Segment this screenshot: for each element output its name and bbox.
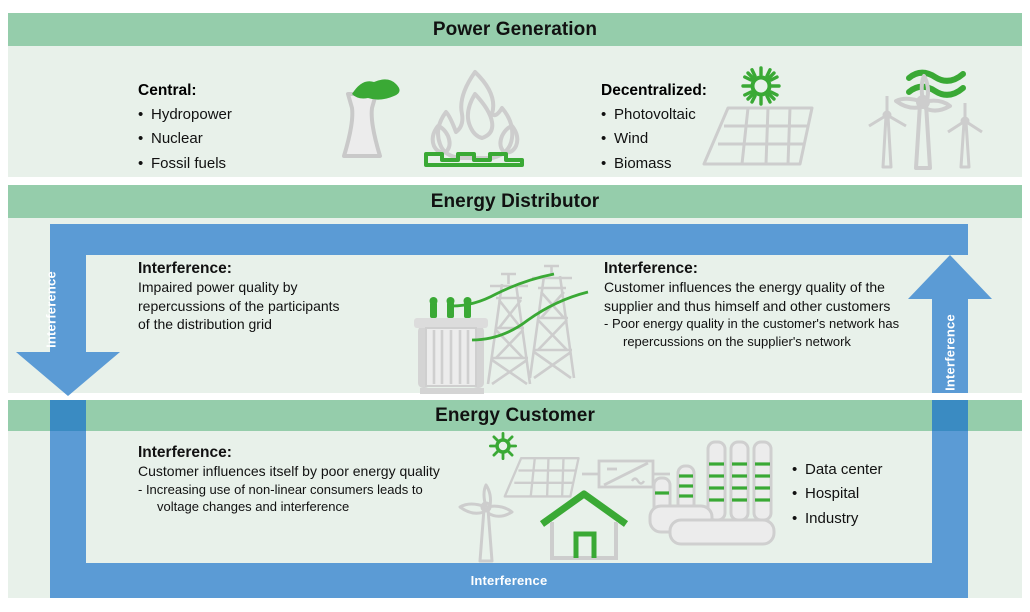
up-arrow-label: Interference xyxy=(943,301,958,405)
house-icon xyxy=(538,490,630,562)
decentralized-heading: Decentralized: xyxy=(601,82,707,100)
distributor-right-line1: Customer influences the energy quality o… xyxy=(604,278,914,297)
flame-burner-icon xyxy=(420,66,530,168)
customer-left-bullet1-cont: voltage changes and interference xyxy=(138,498,498,515)
customer-left-line1: Customer influences itself by poor energ… xyxy=(138,462,498,481)
energy-distributor-header: Energy Distributor xyxy=(8,185,1022,218)
central-items: Hydropower Nuclear Fossil fuels xyxy=(138,103,232,176)
decentralized-list: Decentralized: Photovoltaic Wind Biomass xyxy=(601,82,707,176)
factory-icon xyxy=(648,438,778,548)
power-generation-title: Power Generation xyxy=(433,19,597,41)
distributor-right-heading: Interference: xyxy=(604,260,914,278)
list-item: Data center xyxy=(792,458,883,482)
list-item: Fossil fuels xyxy=(138,152,232,176)
cooling-tower-icon xyxy=(322,68,402,168)
up-arrow-head xyxy=(908,255,992,299)
solar-panel-icon xyxy=(700,104,820,170)
down-arrow-label: Interference xyxy=(44,258,59,362)
distributor-right-bullet1-cont: repercussions on the supplier's network xyxy=(604,333,914,350)
customer-left-text: Interference: Customer influences itself… xyxy=(138,444,498,515)
down-arrow-head xyxy=(16,352,120,396)
distributor-right-bullet1: - Poor energy quality in the customer's … xyxy=(604,315,914,332)
customer-left-shaft xyxy=(50,431,86,563)
distributor-left-text: Interference: Impaired power quality by … xyxy=(138,260,438,334)
list-item: Biomass xyxy=(601,152,707,176)
power-generation-header: Power Generation xyxy=(8,13,1022,46)
diagram-root: Power Generation Central: Hydropower Nuc… xyxy=(0,0,1030,612)
distributor-right-text: Interference: Customer influences the en… xyxy=(604,260,914,350)
customer-sector-list: Data center Hospital Industry xyxy=(792,458,883,531)
transformer-pylon-icon xyxy=(404,258,602,396)
customer-wind-turbine-icon xyxy=(452,485,522,563)
customer-right-shaft-overlap xyxy=(932,400,968,431)
central-heading: Central: xyxy=(138,82,232,100)
list-item: Industry xyxy=(792,507,883,531)
list-item: Hydropower xyxy=(138,103,232,127)
list-item: Photovoltaic xyxy=(601,103,707,127)
bottom-interference-bar: Interference xyxy=(50,563,968,598)
list-item: Wind xyxy=(601,127,707,151)
energy-customer-title: Energy Customer xyxy=(435,405,595,427)
energy-distributor-title: Energy Distributor xyxy=(431,191,600,213)
central-list: Central: Hydropower Nuclear Fossil fuels xyxy=(138,82,232,176)
distributor-left-heading: Interference: xyxy=(138,260,438,278)
sun-icon xyxy=(741,66,781,106)
customer-right-shaft xyxy=(932,431,968,563)
customer-left-bullet1: - Increasing use of non-linear consumers… xyxy=(138,481,498,498)
bottom-arrow-label: Interference xyxy=(471,573,548,588)
distributor-top-bar xyxy=(50,224,968,255)
energy-customer-header: Energy Customer xyxy=(8,400,1022,431)
distributor-left-line3: of the distribution grid xyxy=(138,315,438,334)
customer-sector-items: Data center Hospital Industry xyxy=(792,458,883,531)
customer-left-shaft-overlap xyxy=(50,400,86,431)
wind-turbines-icon xyxy=(846,74,986,170)
decentralized-items: Photovoltaic Wind Biomass xyxy=(601,103,707,176)
distributor-left-line2: repercussions of the participants xyxy=(138,297,438,316)
list-item: Hospital xyxy=(792,482,883,506)
list-item: Nuclear xyxy=(138,127,232,151)
distributor-right-line2: supplier and thus himself and other cust… xyxy=(604,297,914,316)
customer-left-heading: Interference: xyxy=(138,444,498,462)
distributor-left-line1: Impaired power quality by xyxy=(138,278,438,297)
